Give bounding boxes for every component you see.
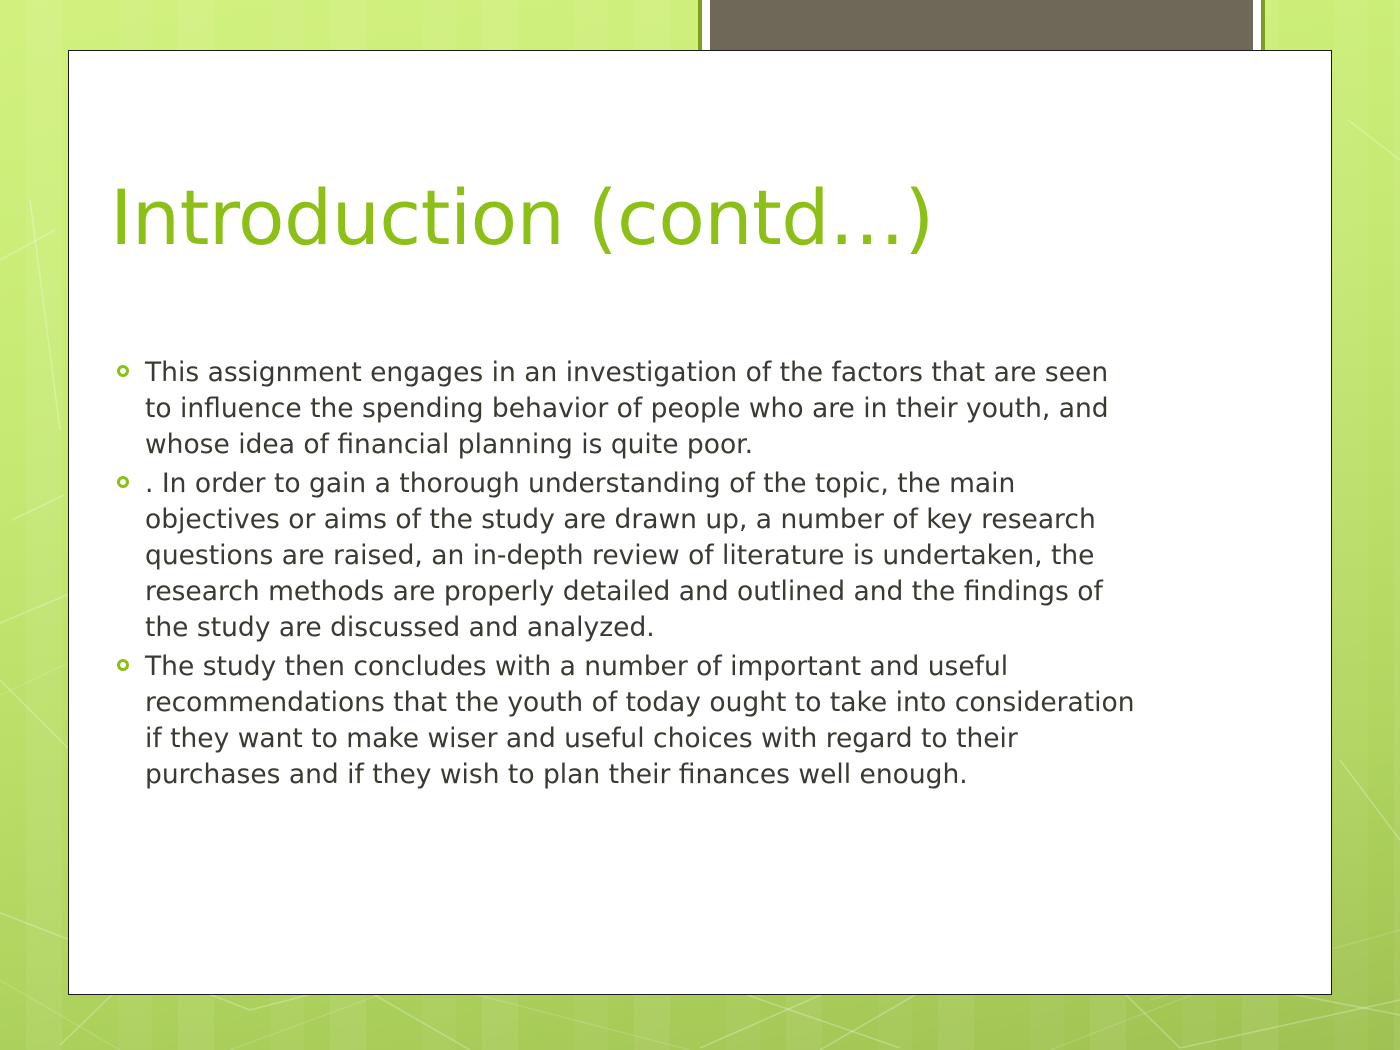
slide-body-list: This assignment engages in an investigat… (110, 355, 1142, 795)
bullet-list-item: . In order to gain a thorough understand… (110, 466, 1142, 647)
bullet-list-item: This assignment engages in an investigat… (110, 355, 1142, 464)
bullet-text: This assignment engages in an investigat… (145, 355, 1142, 464)
bullet-list-item: The study then concludes with a number o… (110, 649, 1142, 794)
bullet-text: . In order to gain a thorough understand… (145, 466, 1142, 647)
ring-bullet-icon (117, 659, 129, 671)
ring-bullet-icon (117, 476, 129, 488)
bullet-text: The study then concludes with a number o… (145, 649, 1142, 794)
ring-bullet-icon (117, 365, 129, 377)
slide-title: Introduction (contd…) (110, 178, 1220, 258)
presentation-slide: Introduction (contd…) This assignment en… (0, 0, 1400, 1050)
